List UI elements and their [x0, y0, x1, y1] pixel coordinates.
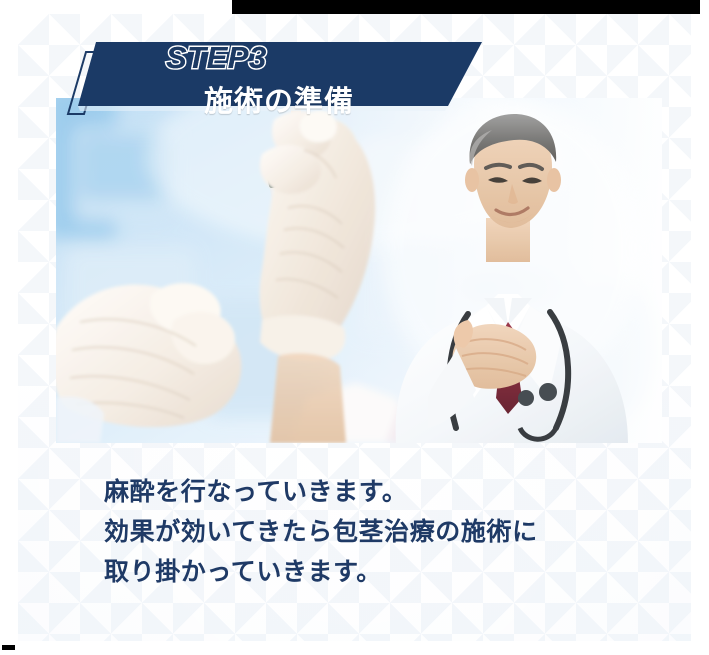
caption-line-3: 取り掛かっていきます。: [104, 552, 664, 592]
caption-line-2: 効果が効いてきたら包茎治療の施術に: [104, 512, 664, 552]
caption-block: 麻酔を行なっていきます。 効果が効いてきたら包茎治療の施術に 取り掛かっていきま…: [104, 472, 664, 592]
top-black-bar: [232, 0, 700, 14]
photo-illustration: 2 4: [56, 98, 662, 443]
caption-line-1: 麻酔を行なっていきます。: [104, 472, 664, 512]
treatment-preparation-photo: 2 4: [56, 98, 662, 443]
bottom-left-dash: [2, 645, 15, 650]
step-card-screenshot: 2 4: [0, 0, 709, 655]
